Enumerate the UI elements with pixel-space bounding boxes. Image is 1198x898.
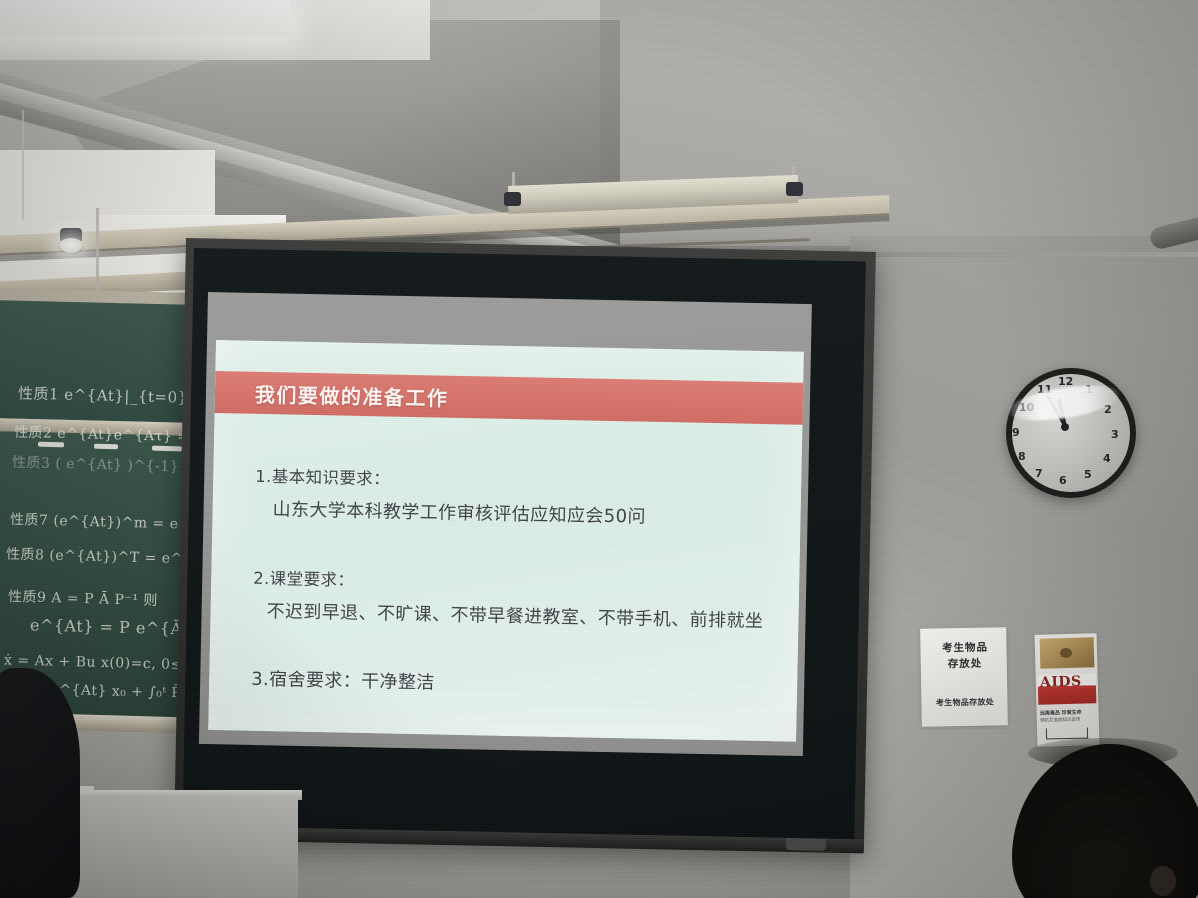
person-shoulder bbox=[0, 668, 80, 898]
student-ear bbox=[1150, 866, 1176, 896]
slide-item-body: 山东大学本科教学工作审核评估应知应会50问 bbox=[272, 495, 646, 528]
clock-numeral: 4 bbox=[1103, 452, 1111, 465]
storage-sign-line3: 考生物品存放处 bbox=[921, 696, 1009, 709]
slide-item-body: 不迟到早退、不旷课、不带早餐进教室、不带手机、前排就坐 bbox=[266, 597, 763, 633]
slide-item-heading: 3.宿舍要求：干净整洁 bbox=[251, 665, 435, 695]
wall-seam-line bbox=[860, 252, 1198, 257]
wall-spot-lamp-glow bbox=[58, 238, 84, 254]
clock-center-hub bbox=[1061, 423, 1069, 431]
slide-item-heading: 2.课堂要求： bbox=[253, 565, 355, 591]
storage-sign-line1: 考生物品 bbox=[927, 639, 1003, 655]
chalk-stick bbox=[152, 446, 182, 452]
lamp-end-cap-right bbox=[786, 182, 803, 196]
blackboard-line: 性质9 A = P Ā P⁻¹ 则 bbox=[8, 586, 158, 610]
poster-headline: AIDS bbox=[1040, 673, 1096, 690]
front-counter bbox=[58, 796, 298, 898]
clock-numeral: 6 bbox=[1059, 474, 1067, 487]
ceiling-fluorescent-lamp-icon bbox=[0, 0, 290, 36]
classroom-scene: 性质1 e^{At}|_{t=0} = E 性质2 e^{At}e^{Aτ} =… bbox=[0, 0, 1198, 898]
hanging-wire-upper bbox=[22, 110, 24, 220]
storage-sign-line2: 存放处 bbox=[927, 655, 1003, 671]
presentation-slide: 我们要做的准备工作 1.基本知识要求： 山东大学本科教学工作审核评估应知应会50… bbox=[208, 340, 804, 742]
clock-numeral: 8 bbox=[1018, 450, 1026, 463]
clock-numeral: 3 bbox=[1111, 428, 1119, 441]
slide-item-heading: 1.基本知识要求： bbox=[255, 463, 390, 490]
chalk-stick bbox=[94, 444, 118, 450]
slide-body: 1.基本知识要求： 山东大学本科教学工作审核评估应知应会50问 2.课堂要求： … bbox=[208, 424, 802, 736]
projection-screen-foot bbox=[786, 838, 826, 851]
lamp-end-cap-left bbox=[504, 192, 521, 206]
clock-numeral: 5 bbox=[1084, 468, 1092, 481]
clock-numeral: 9 bbox=[1012, 426, 1020, 439]
poster-subtitle-1: 远离毒品 珍爱生命 bbox=[1040, 708, 1096, 716]
clock-numeral: 7 bbox=[1035, 467, 1043, 480]
